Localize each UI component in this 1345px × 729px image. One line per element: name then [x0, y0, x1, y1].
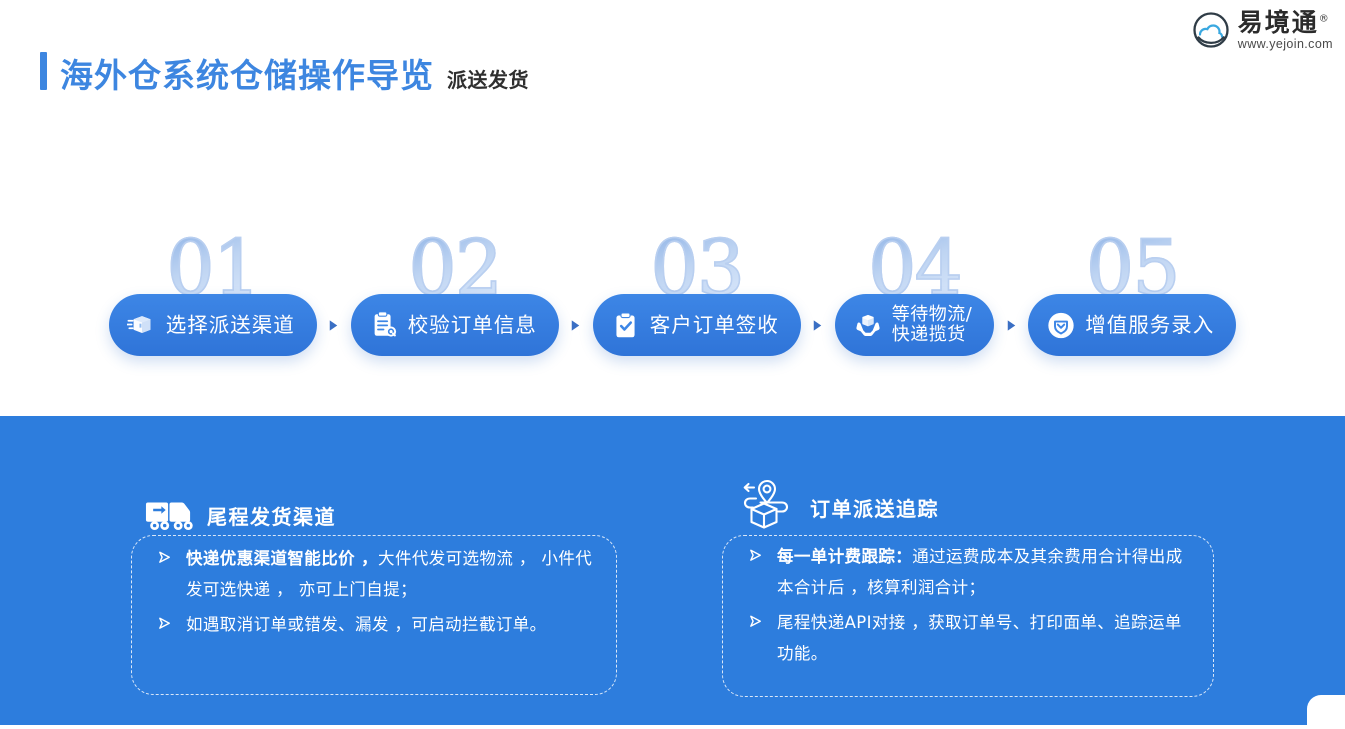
- card-bullet-list: 快递优惠渠道智能比价 ，大件代发可选物流 ， 小件代发可选快递 ， 亦可上门自提…: [157, 544, 599, 646]
- card-title-left: 尾程发货渠道: [207, 501, 336, 530]
- card-bullet-list: 每一单计费跟踪：通过运费成本及其余费用合计得出成本合计后 ，核算利润合计； 尾程…: [748, 542, 1196, 674]
- slide-canvas: 易境通® www.yejoin.com 海外仓系统仓储操作导览 派送发货 01: [0, 0, 1345, 725]
- list-item: 尾程快递API对接 ，获取订单号、打印面单、追踪运单功能。: [748, 608, 1196, 669]
- card-header: 订单派送追踪: [736, 478, 939, 536]
- list-item-text: 尾程快递API对接 ，获取订单号、打印面单、追踪运单功能。: [777, 608, 1196, 669]
- chevron-bullet-icon: [157, 615, 174, 637]
- list-item: 每一单计费跟踪：通过运费成本及其余费用合计得出成本合计后 ，核算利润合计；: [748, 542, 1196, 603]
- list-item-text: 快递优惠渠道智能比价 ，大件代发可选物流 ， 小件代发可选快递 ， 亦可上门自提…: [186, 544, 599, 605]
- card-title-right: 订单派送追踪: [810, 493, 939, 522]
- step-label-04: 等待物流/ 快递揽货: [892, 305, 973, 345]
- detail-cards: 尾程发货渠道 快递优惠渠道智能比价 ，大件代发可选物流 ， 小件代发可选快递 ，…: [0, 0, 1345, 309]
- card-header: 尾程发货渠道: [145, 492, 336, 538]
- step-label-01: 选择派送渠道: [166, 314, 295, 337]
- step-label-05: 增值服务录入: [1085, 314, 1214, 337]
- chevron-bullet-icon: [157, 549, 174, 571]
- shield-chevron-icon: [1046, 310, 1076, 340]
- list-item-bold: 快递优惠渠道智能比价 ，: [186, 549, 378, 568]
- list-item-rest: 尾程快递API对接 ，获取订单号、打印面单、追踪运单功能。: [777, 613, 1182, 663]
- step-label-04-line2: 快递揽货: [892, 324, 966, 345]
- list-item-rest: 如遇取消订单或错发、漏发 ，可启动拦截订单。: [186, 615, 547, 634]
- list-item-text: 每一单计费跟踪：通过运费成本及其余费用合计得出成本合计后 ，核算利润合计；: [777, 542, 1196, 603]
- list-item: 快递优惠渠道智能比价 ，大件代发可选物流 ， 小件代发可选快递 ， 亦可上门自提…: [157, 544, 599, 605]
- moving-box-icon: [127, 310, 157, 340]
- clipboard-check-icon: [611, 310, 641, 340]
- package-location-pin-icon: [736, 478, 798, 536]
- corner-notch: [1303, 691, 1345, 725]
- hands-holding-box-icon: [853, 310, 883, 340]
- list-item-bold: 每一单计费跟踪：: [777, 547, 912, 566]
- list-item-text: 如遇取消订单或错发、漏发 ，可启动拦截订单。: [186, 610, 547, 641]
- delivery-trucks-icon: [145, 492, 195, 538]
- list-item: 如遇取消订单或错发、漏发 ，可启动拦截订单。: [157, 610, 599, 641]
- step-label-02: 校验订单信息: [408, 314, 537, 337]
- clipboard-search-icon: [369, 310, 399, 340]
- chevron-bullet-icon: [748, 547, 765, 569]
- step-label-03: 客户订单签收: [650, 314, 779, 337]
- chevron-bullet-icon: [748, 613, 765, 635]
